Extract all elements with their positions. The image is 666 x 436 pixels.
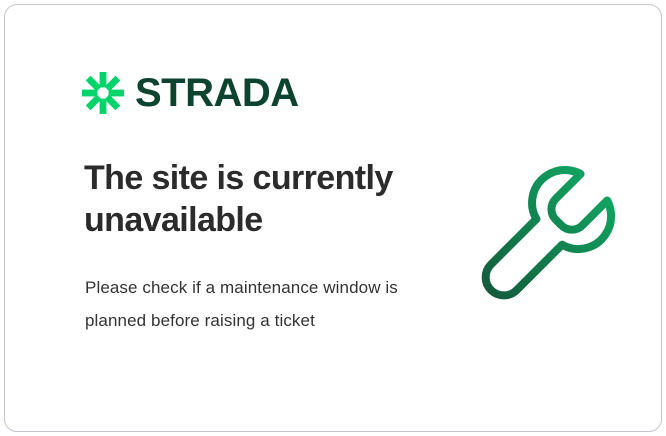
page-title: The site is currently unavailable	[84, 157, 414, 241]
page-description: Please check if a maintenance window is …	[85, 271, 405, 337]
brand-lockup: STRADA	[81, 71, 299, 115]
error-page: STRADA The site is currently unavailable…	[0, 0, 666, 436]
message-card: STRADA The site is currently unavailable…	[4, 4, 662, 432]
strada-asterisk-icon	[81, 71, 125, 115]
wrench-icon	[457, 157, 623, 323]
brand-wordmark: STRADA	[135, 73, 299, 113]
card-content: STRADA The site is currently unavailable…	[5, 5, 661, 431]
